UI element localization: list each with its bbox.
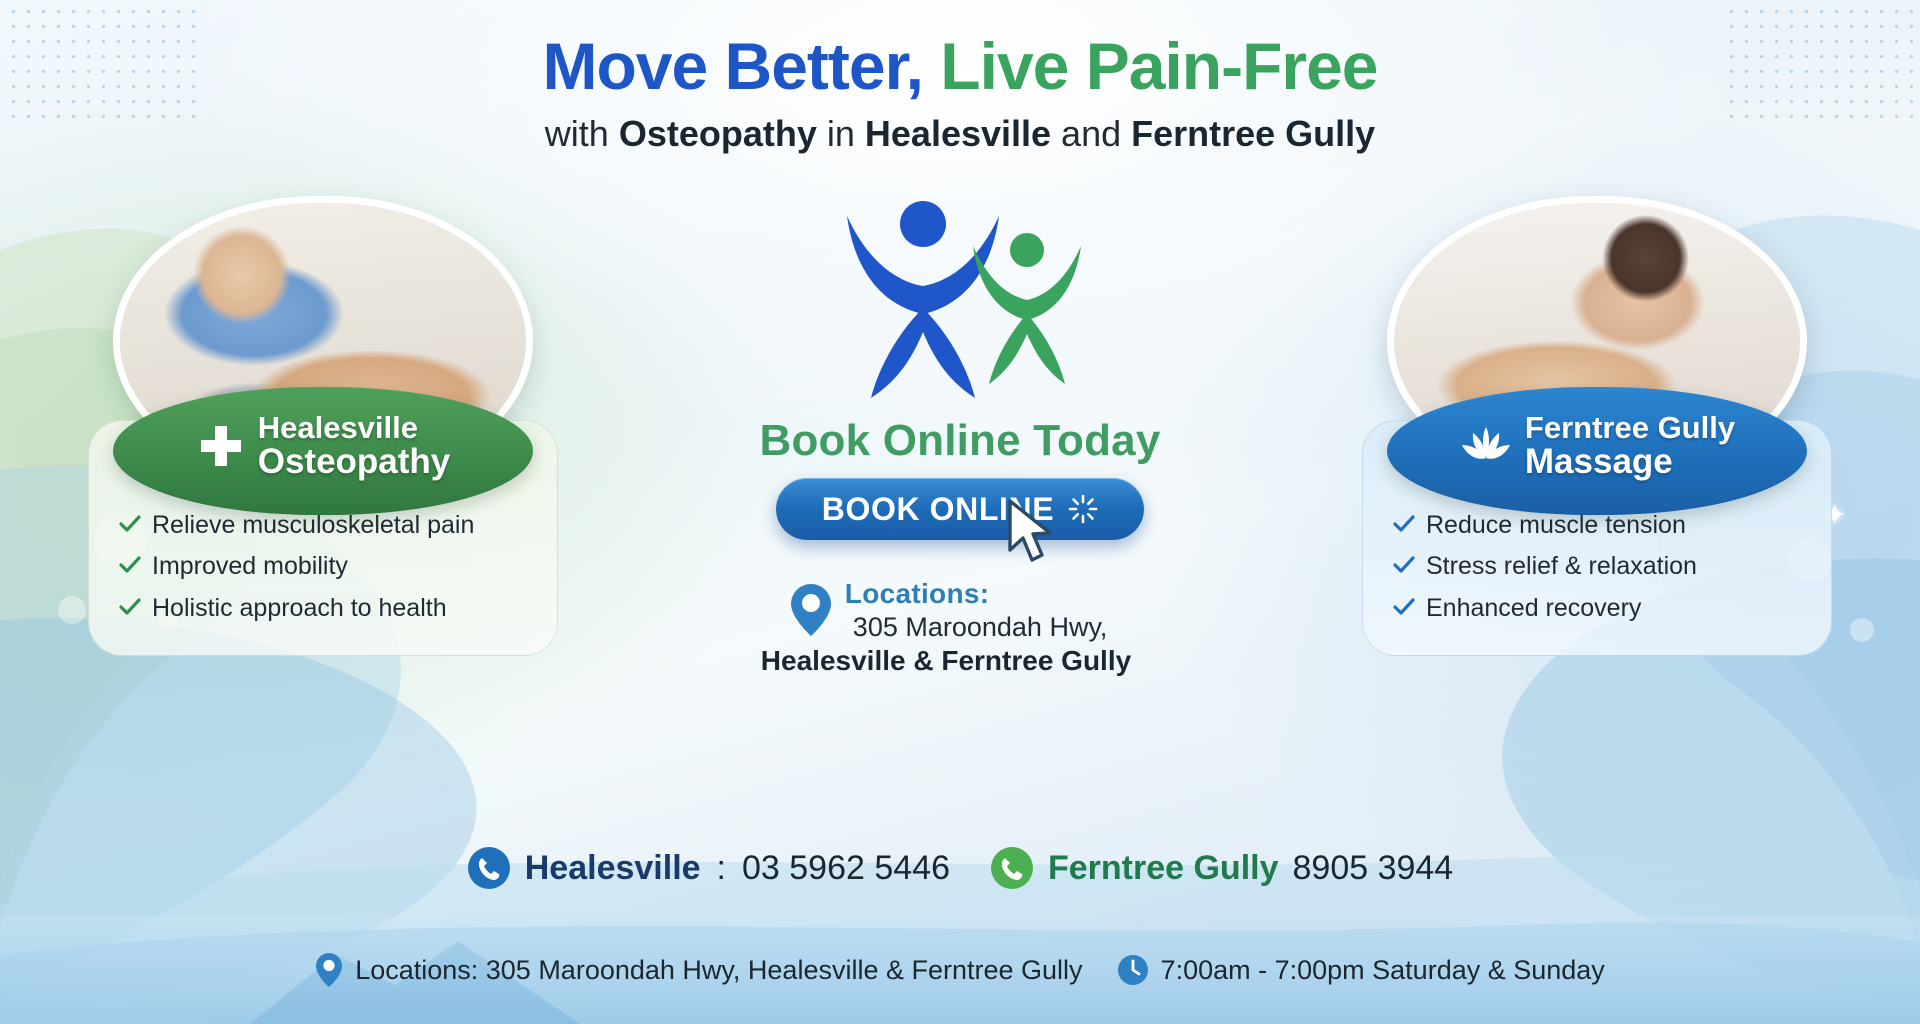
list-item: Stress relief & relaxation bbox=[1387, 546, 1807, 587]
subtitle-pre: with bbox=[545, 113, 619, 154]
locations-block: Locations: 305 Maroondah Hwy, Healesvill… bbox=[680, 578, 1240, 677]
card-left-body: Healesville Osteopathy Relieve musculosk… bbox=[88, 420, 558, 656]
headline-part-green: Live Pain-Free bbox=[923, 29, 1378, 103]
headline-part-blue: Move Better, bbox=[543, 29, 923, 103]
list-item-label: Improved mobility bbox=[152, 551, 348, 582]
headline-block: Move Better, Live Pain-Free with Osteopa… bbox=[0, 32, 1920, 155]
phone-icon bbox=[467, 846, 511, 890]
locations-address-line1: 305 Maroondah Hwy, bbox=[845, 612, 1131, 643]
phone-ferntree-gully-number: 8905 3944 bbox=[1293, 849, 1454, 888]
badge-ferntree-gully-massage: Ferntree Gully Massage bbox=[1387, 387, 1807, 515]
book-online-button-label: BOOK ONLINE bbox=[822, 491, 1054, 528]
phone-healesville-separator: : bbox=[715, 849, 728, 888]
card-healesville-osteopathy: Healesville Osteopathy Relieve musculosk… bbox=[88, 196, 558, 656]
phone-ferntree-gully-label: Ferntree Gully bbox=[1048, 849, 1279, 888]
map-pin-icon bbox=[789, 582, 833, 638]
clock-icon bbox=[1117, 954, 1149, 986]
footer-hours-text: 7:00am - 7:00pm Saturday & Sunday bbox=[1161, 955, 1605, 986]
check-icon bbox=[1393, 555, 1415, 575]
badge-right-line2: Massage bbox=[1525, 444, 1735, 480]
badge-right-line1: Ferntree Gully bbox=[1525, 412, 1735, 444]
subtitle-osteopathy: Osteopathy bbox=[619, 113, 817, 154]
list-item: Improved mobility bbox=[113, 546, 533, 587]
footer-bar: Locations: 305 Maroondah Hwy, Healesvill… bbox=[0, 916, 1920, 1024]
check-icon bbox=[119, 555, 141, 575]
footer-hours: 7:00am - 7:00pm Saturday & Sunday bbox=[1117, 954, 1605, 986]
benefits-list-left: Relieve musculoskeletal pain Improved mo… bbox=[113, 505, 533, 629]
promo-banner: ✦ ✦ ✦ ✦ Move Better, Live Pain-Free with… bbox=[0, 0, 1920, 1024]
card-ferntree-gully-massage: Ferntree Gully Massage Reduce muscle ten… bbox=[1362, 196, 1832, 656]
phone-contact-row: Healesville : 03 5962 5446 Ferntree Gull… bbox=[0, 846, 1920, 890]
people-figures-logo bbox=[795, 190, 1125, 410]
list-item-label: Stress relief & relaxation bbox=[1426, 551, 1697, 582]
list-item: Holistic approach to health bbox=[113, 588, 533, 629]
lotus-icon bbox=[1459, 423, 1513, 469]
check-icon bbox=[1393, 597, 1415, 617]
click-burst-icon bbox=[1068, 494, 1098, 524]
footer-locations: Locations: 305 Maroondah Hwy, Healesvill… bbox=[315, 952, 1082, 988]
phone-ferntree-gully[interactable]: Ferntree Gully 8905 3944 bbox=[990, 846, 1453, 890]
phone-healesville[interactable]: Healesville : 03 5962 5446 bbox=[467, 846, 950, 890]
locations-text: Locations: 305 Maroondah Hwy, Healesvill… bbox=[845, 578, 1131, 677]
book-online-today-heading: Book Online Today bbox=[680, 416, 1240, 466]
subtitle-and: and bbox=[1051, 113, 1131, 154]
badge-left-line2: Osteopathy bbox=[258, 444, 451, 480]
list-item-label: Enhanced recovery bbox=[1426, 593, 1641, 624]
page-subtitle: with Osteopathy in Healesville and Fernt… bbox=[0, 113, 1920, 155]
book-online-button[interactable]: BOOK ONLINE bbox=[776, 478, 1144, 540]
subtitle-healesville: Healesville bbox=[865, 113, 1051, 154]
list-item: Enhanced recovery bbox=[1387, 588, 1807, 629]
phone-healesville-label: Healesville bbox=[525, 849, 701, 888]
badge-healesville-osteopathy: Healesville Osteopathy bbox=[113, 387, 533, 515]
card-right-body: Ferntree Gully Massage Reduce muscle ten… bbox=[1362, 420, 1832, 656]
subtitle-ferntree-gully: Ferntree Gully bbox=[1131, 113, 1375, 154]
check-icon bbox=[119, 514, 141, 534]
map-pin-icon bbox=[315, 952, 343, 988]
benefits-list-right: Reduce muscle tension Stress relief & re… bbox=[1387, 505, 1807, 629]
check-icon bbox=[119, 597, 141, 617]
footer-locations-text: Locations: 305 Maroondah Hwy, Healesvill… bbox=[355, 955, 1082, 986]
page-title: Move Better, Live Pain-Free bbox=[0, 32, 1920, 101]
phone-icon bbox=[990, 846, 1034, 890]
check-icon bbox=[1393, 514, 1415, 534]
badge-left-text: Healesville Osteopathy bbox=[258, 412, 451, 481]
center-column: Book Online Today BOOK ONLINE bbox=[680, 190, 1240, 677]
list-item-label: Holistic approach to health bbox=[152, 593, 447, 624]
list-item-label: Reduce muscle tension bbox=[1426, 510, 1686, 541]
medical-cross-icon bbox=[196, 421, 246, 471]
locations-title: Locations: bbox=[845, 578, 1131, 610]
badge-right-text: Ferntree Gully Massage bbox=[1525, 412, 1735, 481]
badge-left-line1: Healesville bbox=[258, 412, 451, 444]
cta-row: BOOK ONLINE bbox=[680, 478, 1240, 552]
phone-healesville-number: 03 5962 5446 bbox=[742, 849, 950, 888]
subtitle-mid: in bbox=[817, 113, 865, 154]
locations-address-line2: Healesville & Ferntree Gully bbox=[761, 645, 1131, 677]
